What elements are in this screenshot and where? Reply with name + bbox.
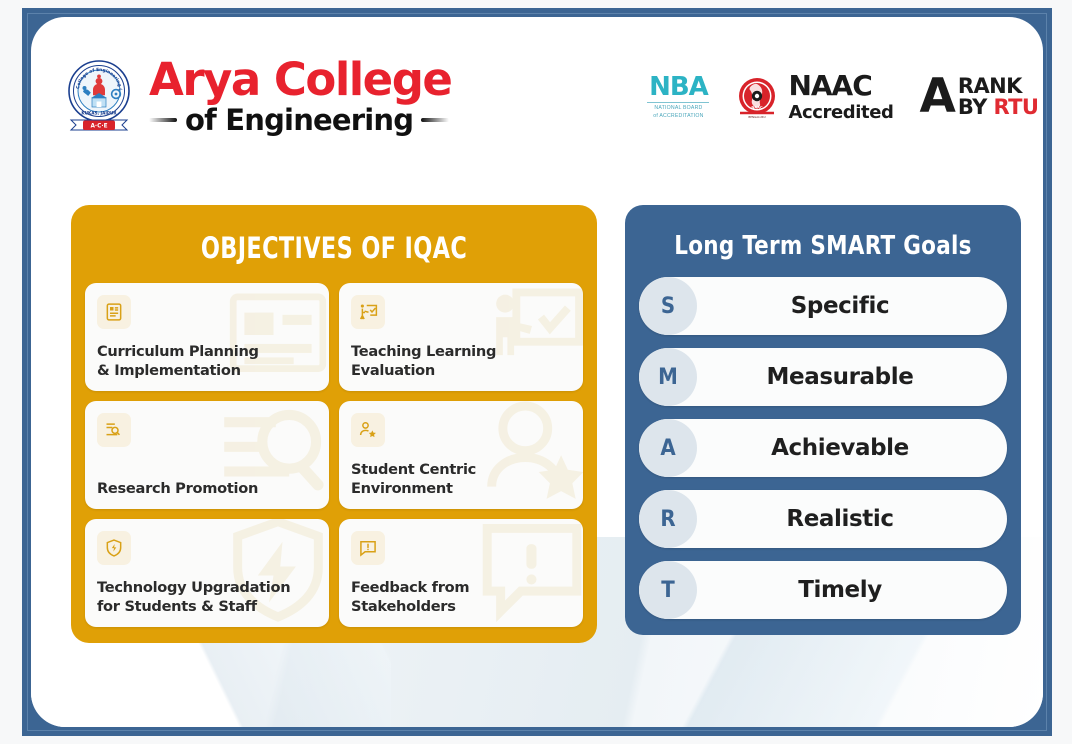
smart-goals-panel-title: Long Term SMART Goals (654, 231, 993, 261)
objective-card-research-promotion[interactable]: Research Promotion (85, 401, 329, 509)
accreditation-badges: NBA NATIONAL BOARD of ACCREDITATION (647, 72, 1038, 123)
arya-college-crest-icon: Arya College of Engineering (ACE) KUKAS,… (63, 58, 135, 136)
objective-card-label: Curriculum Planning & Implementation (97, 343, 317, 381)
svg-text:A·C·E: A·C·E (90, 124, 107, 130)
nba-caption-line1: NATIONAL BOARD (647, 105, 709, 113)
content-panels: OBJECTIVES OF IQAC (31, 205, 1043, 643)
smart-goal-word: Achievable (737, 435, 909, 461)
svg-text:BENGALURU: BENGALURU (749, 115, 766, 119)
header: Arya College of Engineering (ACE) KUKAS,… (31, 17, 1043, 177)
badge-naac: NAAC BENGALURU NAAC Accredited (735, 72, 893, 123)
objective-card-label: Technology Upgradation for Students & St… (97, 579, 317, 617)
document-list-icon (97, 295, 131, 329)
smart-goal-row-measurable[interactable]: Measurable M (639, 348, 1007, 406)
objectives-grid: Curriculum Planning & Implementation (85, 283, 583, 627)
naac-title: NAAC (788, 72, 893, 100)
brand-rule-right (421, 118, 449, 122)
nba-mark: NBA (647, 74, 709, 100)
objective-card-label: Student Centric Environment (351, 461, 571, 499)
smart-goal-letter: R (639, 490, 697, 548)
objective-card-label: Teaching Learning Evaluation (351, 343, 571, 381)
brand-subtitle-row: of Engineering (149, 103, 451, 137)
brand-subtitle: of Engineering (185, 103, 413, 137)
rank-label: RANK (958, 76, 1038, 97)
nba-caption-line2: of ACCREDITATION (647, 113, 709, 121)
rank-rtu-text: RTU (994, 95, 1039, 119)
search-document-icon (97, 413, 131, 447)
smart-goal-row-specific[interactable]: Specific S (639, 277, 1007, 335)
smart-goal-word: Measurable (733, 364, 914, 390)
smart-goal-row-realistic[interactable]: Realistic R (639, 490, 1007, 548)
objective-card-student-centric-environment[interactable]: Student Centric Environment (339, 401, 583, 509)
objectives-panel: OBJECTIVES OF IQAC (71, 205, 597, 643)
objective-card-label: Feedback from Stakeholders (351, 579, 571, 617)
feedback-bubble-icon (351, 531, 385, 565)
objective-card-curriculum-planning[interactable]: Curriculum Planning & Implementation (85, 283, 329, 391)
smart-goal-word: Timely (764, 577, 882, 603)
slide-frame: Arya College of Engineering (ACE) KUKAS,… (22, 8, 1052, 736)
naac-seal-icon: NAAC BENGALURU (735, 75, 779, 119)
badge-nba: NBA NATIONAL BOARD of ACCREDITATION (647, 74, 709, 121)
smart-goal-row-achievable[interactable]: Achievable A (639, 419, 1007, 477)
objective-card-technology-upgradation[interactable]: Technology Upgradation for Students & St… (85, 519, 329, 627)
svg-text:KUKAS, JAIPUR: KUKAS, JAIPUR (81, 110, 117, 115)
smart-goal-word: Specific (757, 293, 889, 319)
slide-canvas: Arya College of Engineering (ACE) KUKAS,… (31, 17, 1043, 727)
brand-lockup: Arya College of Engineering (ACE) KUKAS,… (63, 57, 451, 138)
rank-by-text: BY (958, 95, 987, 119)
objective-card-label: Research Promotion (97, 480, 317, 499)
smart-goal-letter: A (639, 419, 697, 477)
rank-authority: BY RTU (958, 97, 1038, 118)
brand-name: Arya College (149, 57, 451, 103)
objectives-panel-title: OBJECTIVES OF IQAC (120, 231, 548, 265)
objective-card-teaching-learning-evaluation[interactable]: Teaching Learning Evaluation (339, 283, 583, 391)
brand-text: Arya College of Engineering (149, 57, 451, 138)
smart-goal-row-timely[interactable]: Timely T (639, 561, 1007, 619)
objective-card-feedback-from-stakeholders[interactable]: Feedback from Stakeholders (339, 519, 583, 627)
teacher-board-icon (351, 295, 385, 329)
rank-grade-letter: A (920, 76, 954, 118)
brand-rule-left (149, 118, 177, 122)
naac-subtitle: Accredited (788, 102, 893, 123)
smart-goals-panel: Long Term SMART Goals Specific S Measura… (625, 205, 1021, 635)
nba-caption: NATIONAL BOARD of ACCREDITATION (647, 102, 709, 121)
user-star-icon (351, 413, 385, 447)
smart-goal-letter: T (639, 561, 697, 619)
badge-a-rank-by-rtu: A RANK BY RTU (920, 76, 1039, 119)
shield-bolt-icon (97, 531, 131, 565)
smart-goal-letter: M (639, 348, 697, 406)
svg-text:NAAC: NAAC (752, 106, 764, 110)
smart-goal-letter: S (639, 277, 697, 335)
smart-goal-word: Realistic (752, 506, 893, 532)
